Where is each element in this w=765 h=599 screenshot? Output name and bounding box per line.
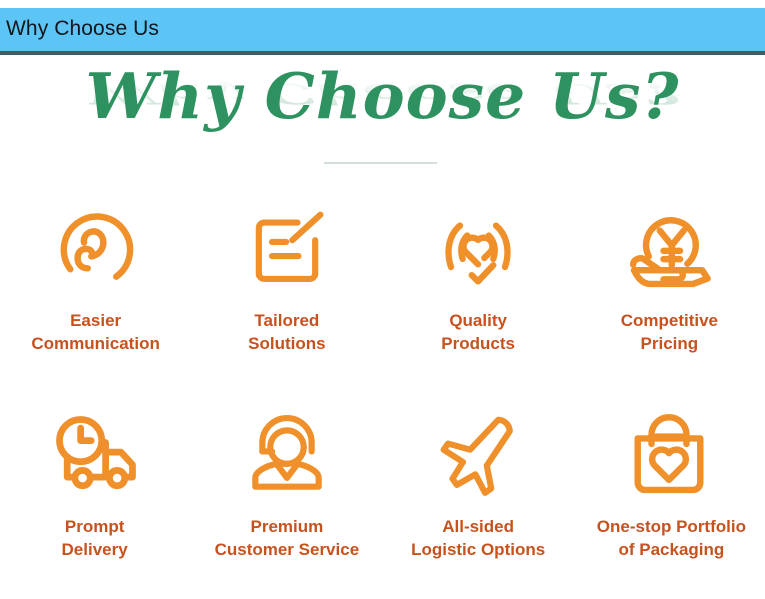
- feature-label: One-stop Portfolio of Packaging: [597, 515, 746, 561]
- feature-grid: Easier Communication Tailored Solutions: [0, 199, 765, 561]
- feature-label: Quality Products: [441, 309, 515, 355]
- feature-item-tailored-solutions[interactable]: Tailored Solutions: [191, 199, 382, 355]
- heart-signal-check-icon: [428, 199, 528, 299]
- feature-label: Prompt Delivery: [62, 515, 128, 561]
- page-heading: Why Choose Us? Why Choose Us?: [0, 59, 765, 167]
- feature-label: Easier Communication: [31, 309, 159, 355]
- feature-item-competitive-pricing[interactable]: Competitive Pricing: [574, 199, 765, 355]
- feature-row: Easier Communication Tailored Solutions: [0, 199, 765, 355]
- shopping-bag-heart-icon: [619, 405, 719, 505]
- feature-label: All-sided Logistic Options: [411, 515, 545, 561]
- feature-item-easier-communication[interactable]: Easier Communication: [0, 199, 191, 355]
- airplane-icon: [428, 405, 528, 505]
- feature-item-all-sided-logistic-options[interactable]: All-sided Logistic Options: [383, 405, 574, 561]
- ear-in-circle-icon: [46, 199, 146, 299]
- feature-label: Premium Customer Service: [215, 515, 360, 561]
- feature-item-quality-products[interactable]: Quality Products: [383, 199, 574, 355]
- window-title: Why Choose Us: [6, 17, 159, 41]
- page-title: Why Choose Us?: [0, 57, 765, 135]
- delivery-truck-clock-icon: [46, 405, 146, 505]
- feature-item-premium-customer-service[interactable]: Premium Customer Service: [191, 405, 382, 561]
- feature-row: Prompt Delivery Premium Customer Service: [0, 405, 765, 561]
- window-title-bar: Why Choose Us: [0, 8, 765, 55]
- feature-item-one-stop-portfolio-of-packaging[interactable]: One-stop Portfolio of Packaging: [574, 405, 765, 561]
- feature-item-prompt-delivery[interactable]: Prompt Delivery: [0, 405, 191, 561]
- heading-divider: [324, 162, 437, 164]
- document-pencil-icon: [237, 199, 337, 299]
- hand-yen-coin-icon: [619, 199, 719, 299]
- feature-label: Tailored Solutions: [248, 309, 325, 355]
- headset-person-icon: [237, 405, 337, 505]
- feature-label: Competitive Pricing: [621, 309, 718, 355]
- page-content: Why Choose Us? Why Choose Us? Easier Com…: [0, 59, 765, 599]
